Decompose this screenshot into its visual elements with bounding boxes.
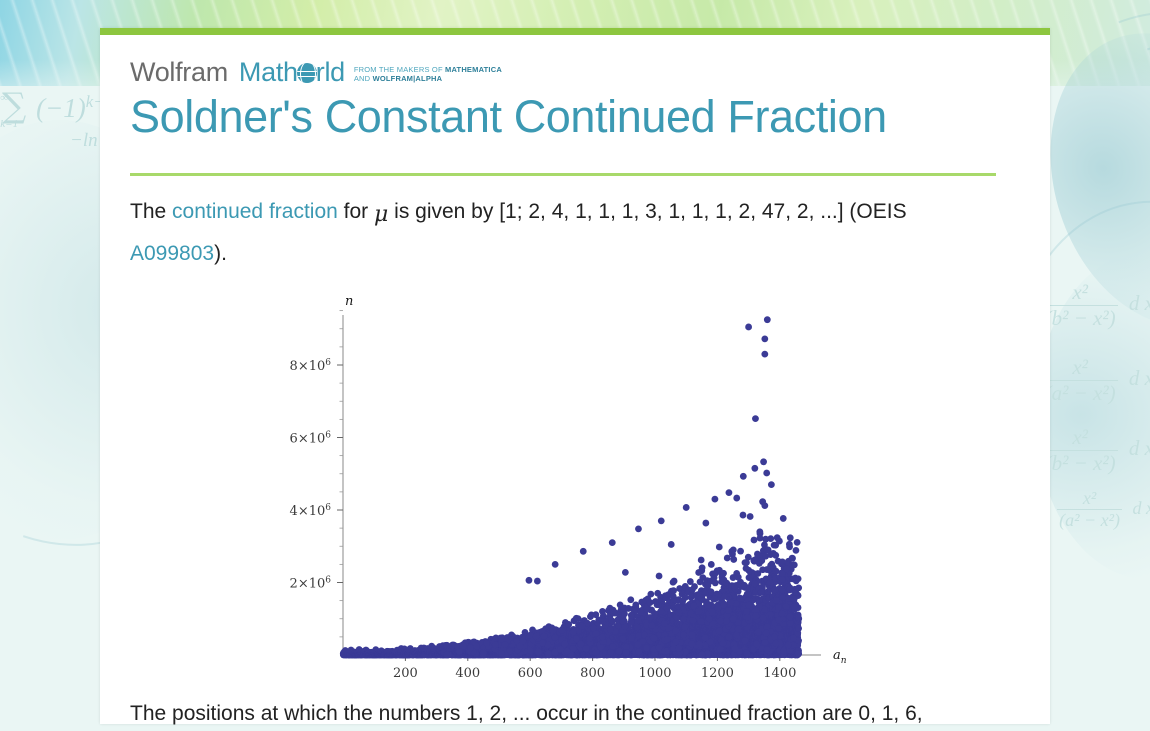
svg-text:1400: 1400 bbox=[763, 666, 796, 681]
formula-4-numerator: x² bbox=[1057, 488, 1122, 510]
globe-icon bbox=[297, 63, 317, 83]
svg-text:200: 200 bbox=[393, 666, 418, 681]
svg-text:800: 800 bbox=[580, 666, 605, 681]
logo-world-text: rld bbox=[316, 57, 345, 87]
logo-tagline: FROM THE MAKERS OF MATHEMATICA AND WOLFR… bbox=[354, 66, 502, 84]
svg-text:600: 600 bbox=[518, 666, 543, 681]
tagline-1-prefix: FROM THE MAKERS OF bbox=[354, 65, 445, 74]
tagline-2-prefix: AND bbox=[354, 74, 373, 83]
sum-upper-limit: ∞ bbox=[0, 92, 18, 104]
intro-text-1: The bbox=[130, 200, 172, 223]
formula-2-dx: d x bbox=[1129, 366, 1150, 390]
intro-text-4: ). bbox=[214, 242, 227, 265]
formula-3-dx: d x bbox=[1129, 436, 1150, 460]
y-axis-label: n bbox=[345, 294, 353, 309]
card-accent-bar bbox=[100, 28, 1050, 35]
background-formula-right-3: x² (b² − x²) d x bbox=[1043, 425, 1150, 476]
x-axis-tick-labels: 200400600800100012001400 bbox=[393, 666, 796, 681]
background-formula-right-2: x² (a² − x²) d x bbox=[1043, 355, 1150, 406]
formula-1-denominator: (b² − x²) bbox=[1043, 306, 1118, 331]
formula-4-dx: d x bbox=[1133, 498, 1150, 518]
formula-1-dx: d x bbox=[1129, 291, 1150, 315]
svg-text:1200: 1200 bbox=[701, 666, 734, 681]
formula-2-numerator: x² bbox=[1043, 355, 1118, 381]
link-continued-fraction[interactable]: continued fraction bbox=[172, 200, 338, 223]
intro-paragraph: The continued fraction for μ is given by… bbox=[130, 192, 940, 273]
scatter-plot-figure: 2×1064×1066×1068×106 2004006008001000120… bbox=[255, 287, 875, 687]
formula-3-denominator: (b² − x²) bbox=[1043, 451, 1118, 476]
intro-text-3: is given by [1; 2, 4, 1, 1, 1, 3, 1, 1, … bbox=[388, 200, 906, 223]
logo-math-text: Math bbox=[239, 57, 298, 87]
scatter-plot-svg: 2×1064×1066×1068×106 2004006008001000120… bbox=[255, 287, 875, 687]
link-oeis-a099803[interactable]: A099803 bbox=[130, 242, 214, 265]
site-logo[interactable]: Wolfram Mathrld FROM THE MAKERS OF MATHE… bbox=[130, 57, 1025, 88]
mu-symbol: μ bbox=[374, 202, 388, 227]
formula-3-numerator: x² bbox=[1043, 425, 1118, 451]
background-formula-left-ln: −ln bbox=[70, 130, 98, 152]
sum-lower-limit: k=1 bbox=[0, 118, 18, 130]
tagline-2-bold: WOLFRAM|ALPHA bbox=[373, 74, 443, 83]
sum-term: (−1) bbox=[36, 93, 86, 123]
background-formula-right-1: x² (b² − x²) d x bbox=[1043, 280, 1150, 331]
y-axis-tick-labels: 2×1064×1066×1068×106 bbox=[290, 358, 332, 592]
svg-text:4×106: 4×106 bbox=[290, 503, 332, 519]
title-divider bbox=[130, 173, 996, 176]
formula-1-numerator: x² bbox=[1043, 280, 1118, 306]
tagline-line-2: AND WOLFRAM|ALPHA bbox=[354, 74, 442, 83]
svg-text:2×106: 2×106 bbox=[290, 576, 332, 592]
logo-wolfram-text: Wolfram bbox=[130, 57, 228, 88]
tagline-1-bold: MATHEMATICA bbox=[445, 65, 502, 74]
svg-text:6×106: 6×106 bbox=[290, 431, 332, 447]
formula-2-denominator: (a² − x²) bbox=[1043, 381, 1118, 406]
formula-4-denominator: (a² − x²) bbox=[1057, 510, 1122, 531]
svg-text:1000: 1000 bbox=[638, 666, 671, 681]
logo-mathworld-text: Mathrld bbox=[239, 57, 345, 88]
background-formula-left: ∑ ∞ k=1 (−1)k−1 bbox=[2, 86, 113, 130]
tagline-line-1: FROM THE MAKERS OF MATHEMATICA bbox=[354, 65, 502, 74]
background-formula-right-4: x² (a² − x²) d x bbox=[1057, 488, 1150, 531]
x-axis-label: an bbox=[833, 648, 847, 666]
page-title: Soldner's Constant Continued Fraction bbox=[130, 90, 1025, 143]
content-card: Wolfram Mathrld FROM THE MAKERS OF MATHE… bbox=[100, 28, 1050, 724]
intro-text-2: for bbox=[338, 200, 374, 223]
outro-paragraph: The positions at which the numbers 1, 2,… bbox=[130, 697, 1025, 731]
svg-text:8×106: 8×106 bbox=[290, 358, 332, 374]
svg-text:400: 400 bbox=[455, 666, 480, 681]
data-points bbox=[340, 317, 802, 659]
